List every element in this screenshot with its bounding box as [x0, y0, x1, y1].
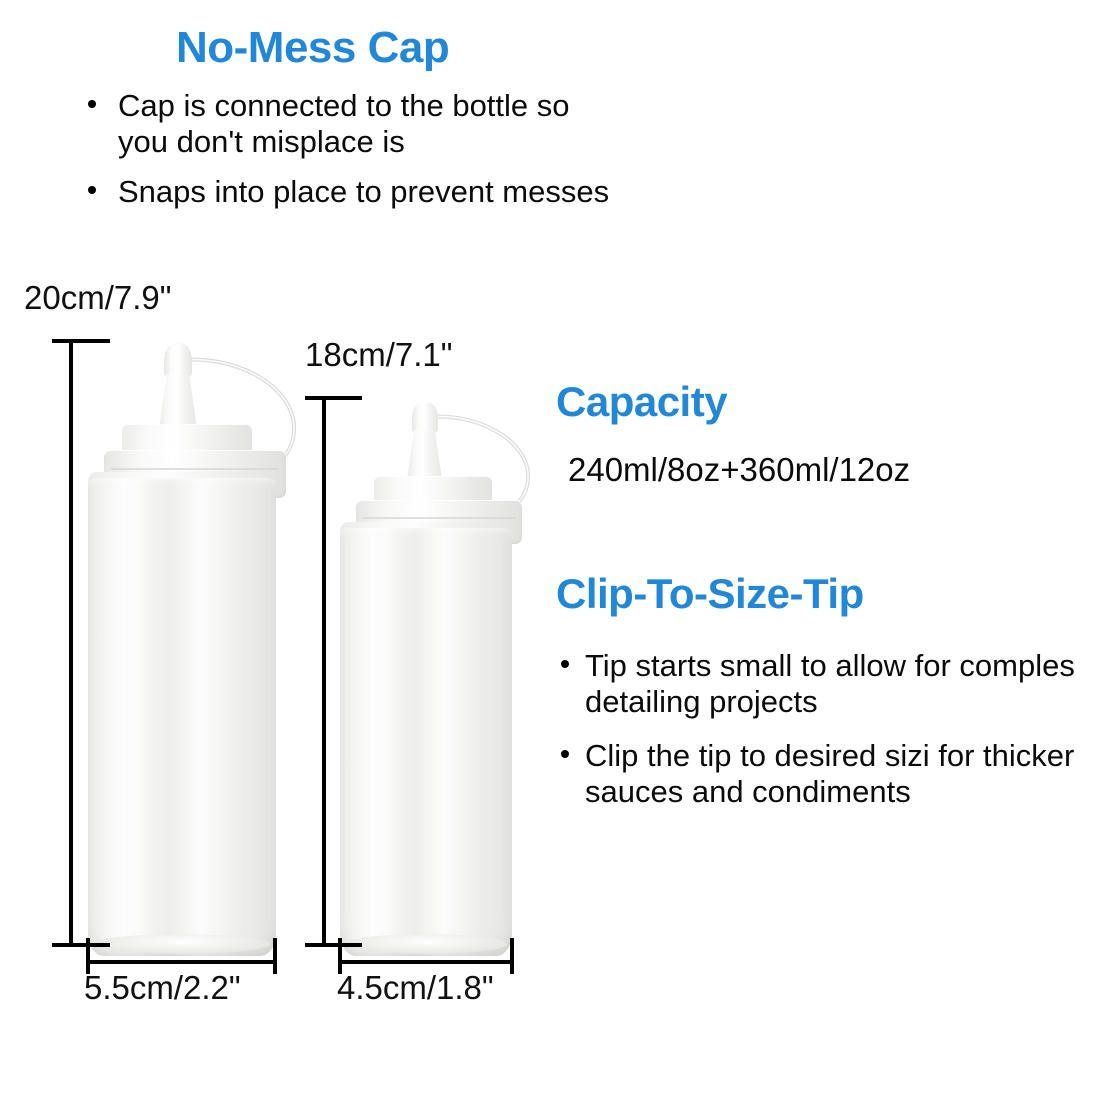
width-label-large-bottle: 5.5cm/2.2": [84, 971, 241, 1005]
capacity-value: 240ml/8oz+360ml/12oz: [568, 452, 910, 488]
bullet-line: you don't misplace is: [118, 124, 609, 160]
bullet-line: Clip the tip to desired sizi for thicker: [585, 738, 1075, 774]
bottle-tip-top: [164, 343, 192, 377]
bullet-dot-icon: [88, 100, 96, 108]
capacity-heading: Capacity: [556, 381, 727, 423]
list-item: Tip starts small to allow for comples de…: [561, 648, 1075, 720]
bullet-dot-icon: [561, 660, 569, 668]
bullet-line: Tip starts small to allow for comples: [585, 648, 1075, 684]
no-mess-cap-heading: No-Mess Cap: [176, 26, 449, 70]
height-label-large-bottle: 20cm/7.9": [24, 281, 171, 315]
bullet-line: Snaps into place to prevent messes: [118, 174, 609, 210]
infographic-canvas: No-Mess Cap Cap is connected to the bott…: [0, 0, 1100, 1100]
clip-to-size-tip-bullet-list: Tip starts small to allow for comples de…: [561, 648, 1075, 828]
height-label-small-bottle: 18cm/7.1": [305, 338, 452, 372]
list-item: Cap is connected to the bottle so you do…: [88, 88, 609, 160]
bullet-dot-icon: [561, 750, 569, 758]
clip-to-size-tip-heading: Clip-To-Size-Tip: [556, 573, 864, 615]
bullet-line: Cap is connected to the bottle so: [118, 88, 609, 124]
bottle-body: [88, 478, 276, 956]
bullet-dot-icon: [88, 186, 96, 194]
bullet-line: detailing projects: [585, 684, 1075, 720]
list-item: Snaps into place to prevent messes: [88, 174, 609, 210]
no-mess-cap-bullet-list: Cap is connected to the bottle so you do…: [88, 88, 609, 224]
list-item: Clip the tip to desired sizi for thicker…: [561, 738, 1075, 810]
width-label-small-bottle: 4.5cm/1.8": [337, 971, 494, 1005]
bullet-line: sauces and condiments: [585, 774, 1075, 810]
bottle-tip-top: [412, 402, 438, 433]
bottle-body: [340, 528, 512, 956]
